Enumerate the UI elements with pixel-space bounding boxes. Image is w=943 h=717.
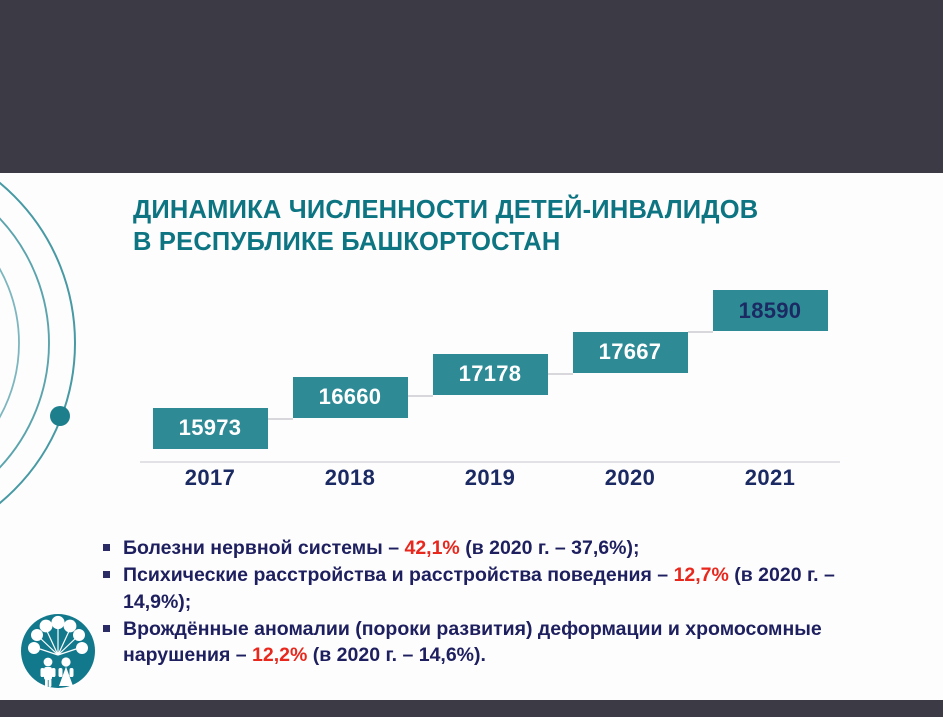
list-item: Психические расстройства и расстройства …: [103, 562, 903, 615]
list-item-text: Врождённые аномалии (пороки развития) де…: [123, 616, 903, 669]
chart-plot-area: 1597316660171781766718590: [140, 283, 840, 461]
chart-bar-2019: 17178: [433, 354, 548, 395]
list-item-text: Болезни нервной системы – 42,1% (в 2020 …: [123, 535, 903, 561]
chart-connector: [548, 373, 573, 375]
chart-bar-value-2019: 17178: [459, 363, 522, 385]
children-disability-waterfall-chart: 1597316660171781766718590 20172018201920…: [140, 283, 840, 495]
chart-bar-value-2021: 18590: [739, 300, 802, 322]
bullet-text-part: Болезни нервной системы –: [123, 537, 404, 559]
bullet-square-icon: [103, 544, 110, 551]
list-item-text: Психические расстройства и расстройства …: [123, 562, 903, 615]
chart-bar-value-2017: 15973: [179, 417, 242, 439]
page-title: ДИНАМИКА ЧИСЛЕННОСТИ ДЕТЕЙ-ИНВАЛИДОВ В Р…: [133, 195, 923, 258]
highlight-percent: 12,7%: [674, 564, 729, 586]
chart-bar-2021: 18590: [713, 290, 828, 331]
statistics-bullet-list: Болезни нервной системы – 42,1% (в 2020 …: [103, 535, 903, 670]
bullet-square-icon: [103, 571, 110, 578]
chart-connector: [408, 395, 433, 397]
bullet-text-part: Психические расстройства и расстройства …: [123, 564, 674, 586]
chart-connector: [688, 331, 713, 333]
chart-x-tick-2019: 2019: [420, 465, 560, 495]
chart-bar-2020: 17667: [573, 332, 688, 373]
family-tree-logo: [17, 610, 99, 692]
chart-x-tick-2020: 2020: [560, 465, 700, 495]
chart-x-tick-2017: 2017: [140, 465, 280, 495]
arc-dot: [50, 406, 70, 426]
bottom-letterbox-strip: [0, 700, 943, 717]
chart-bar-value-2018: 16660: [319, 386, 382, 408]
chart-x-axis: 20172018201920202021: [140, 465, 840, 495]
bullet-square-icon: [103, 625, 110, 632]
chart-bar-value-2020: 17667: [599, 341, 662, 363]
highlight-percent: 12,2%: [252, 644, 307, 666]
title-line-2: В РЕСПУБЛИКЕ БАШКОРТОСТАН: [133, 227, 923, 259]
list-item: Болезни нервной системы – 42,1% (в 2020 …: [103, 535, 903, 561]
highlight-percent: 42,1%: [404, 537, 459, 559]
list-item: Врождённые аномалии (пороки развития) де…: [103, 616, 903, 669]
chart-bar-2017: 15973: [153, 408, 268, 449]
title-line-1: ДИНАМИКА ЧИСЛЕННОСТИ ДЕТЕЙ-ИНВАЛИДОВ: [133, 195, 923, 227]
bullet-text-part: (в 2020 г. – 37,6%);: [460, 537, 640, 559]
slide-canvas: ДИНАМИКА ЧИСЛЕННОСТИ ДЕТЕЙ-ИНВАЛИДОВ В Р…: [0, 173, 943, 700]
chart-axis-line: [140, 461, 840, 463]
chart-connector: [268, 418, 293, 420]
bullet-text-part: (в 2020 г. – 14,6%).: [307, 644, 486, 666]
chart-bar-2018: 16660: [293, 377, 408, 418]
chart-x-tick-2021: 2021: [700, 465, 840, 495]
chart-x-tick-2018: 2018: [280, 465, 420, 495]
